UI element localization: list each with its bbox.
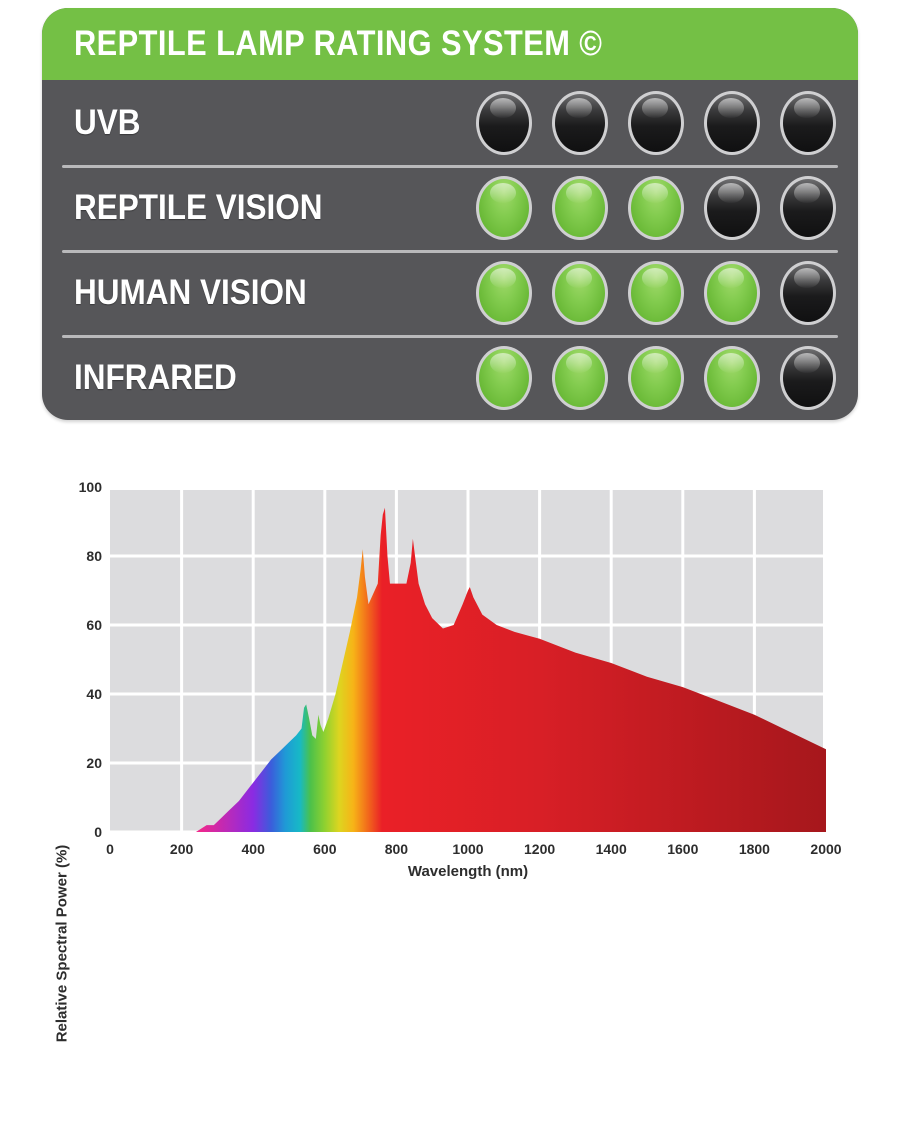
rating-row: INFRARED	[42, 335, 858, 420]
x-axis-tick-label: 1000	[452, 841, 483, 857]
x-axis-tick-label: 1200	[524, 841, 555, 857]
rating-rows-container: UVBREPTILE VISIONHUMAN VISIONINFRARED	[42, 80, 858, 420]
reptile-lamp-rating-panel: REPTILE LAMP RATING SYSTEM © UVBREPTILE …	[42, 8, 858, 420]
x-axis-tick-label: 2000	[810, 841, 841, 857]
x-axis-title: Wavelength (nm)	[110, 863, 826, 880]
rating-dot-filled	[704, 261, 760, 325]
rating-dot-empty	[780, 176, 836, 240]
rating-row-label: REPTILE VISION	[74, 188, 323, 228]
x-axis-tick-label: 800	[385, 841, 408, 857]
gridline-vertical	[180, 487, 183, 832]
y-axis-tick-label: 20	[86, 755, 102, 771]
rating-dot-filled	[476, 261, 532, 325]
rating-dot-empty	[780, 91, 836, 155]
rating-row: HUMAN VISION	[42, 250, 858, 335]
rating-row-label: INFRARED	[74, 358, 237, 398]
x-axis-tick-label: 200	[170, 841, 193, 857]
rating-panel-title: REPTILE LAMP RATING SYSTEM ©	[74, 24, 602, 64]
x-axis-tick-label: 600	[313, 841, 336, 857]
rating-dot-empty	[628, 91, 684, 155]
chart-plot-area: 020406080100 020040060080010001200140016…	[110, 487, 826, 832]
rating-dot-empty	[704, 176, 760, 240]
rating-dot-filled	[476, 346, 532, 410]
gridline-vertical	[252, 487, 255, 832]
y-axis-tick-label: 80	[86, 548, 102, 564]
y-axis-title: Relative Spectral Power (%)	[54, 764, 71, 1124]
rating-dot-filled	[628, 261, 684, 325]
rating-panel-header: REPTILE LAMP RATING SYSTEM ©	[42, 8, 858, 80]
rating-dot-empty	[476, 91, 532, 155]
x-axis-tick-label: 400	[242, 841, 265, 857]
rating-dots	[476, 91, 836, 155]
rating-dot-filled	[704, 346, 760, 410]
rating-dot-filled	[552, 346, 608, 410]
rating-dot-empty	[552, 91, 608, 155]
rating-row: REPTILE VISION	[42, 165, 858, 250]
rating-dot-filled	[476, 176, 532, 240]
y-axis-tick-label: 0	[94, 824, 102, 840]
rating-dots	[476, 261, 836, 325]
rating-dot-filled	[628, 346, 684, 410]
x-axis-tick-label: 1600	[667, 841, 698, 857]
rating-dot-filled	[552, 176, 608, 240]
x-axis-tick-label: 0	[106, 841, 114, 857]
x-axis-tick-label: 1400	[596, 841, 627, 857]
spectrum-area-path	[110, 487, 826, 832]
rating-row-label: HUMAN VISION	[74, 273, 307, 313]
rating-dots	[476, 346, 836, 410]
rating-dot-empty	[780, 261, 836, 325]
y-axis-tick-label: 100	[79, 479, 102, 495]
rating-dot-filled	[628, 176, 684, 240]
rating-dot-filled	[552, 261, 608, 325]
rating-row: UVB	[42, 80, 858, 165]
x-axis-tick-label: 1800	[739, 841, 770, 857]
rating-dot-empty	[704, 91, 760, 155]
y-axis-tick-label: 60	[86, 617, 102, 633]
rating-dots	[476, 176, 836, 240]
rating-dot-empty	[780, 346, 836, 410]
y-axis-tick-label: 40	[86, 686, 102, 702]
spectral-power-chart: Relative Spectral Power (%) 020406080100…	[0, 455, 900, 895]
rating-row-label: UVB	[74, 103, 141, 143]
